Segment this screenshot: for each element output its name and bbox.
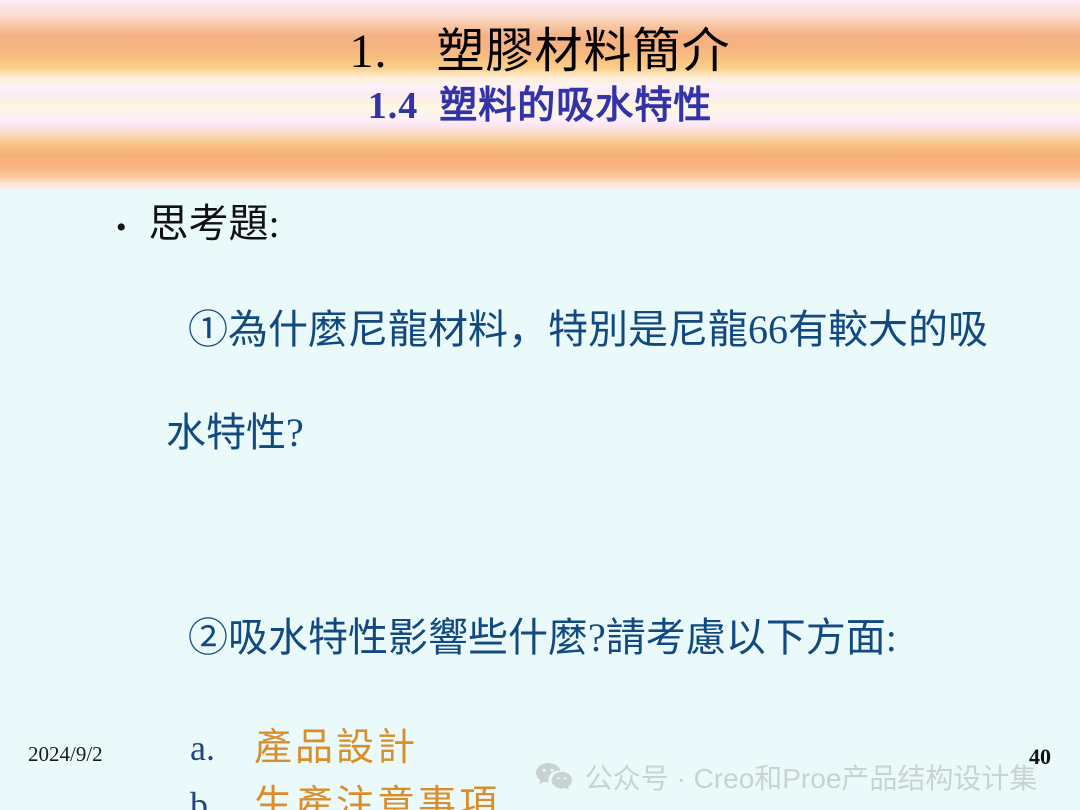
footer-date: 2024/9/2 <box>28 742 103 767</box>
page-title: 1. 塑膠材料簡介 <box>349 26 730 78</box>
sub-list-item-a-marker: a. <box>190 727 254 769</box>
slide-body: • 思考題: ①為什麼尼龍材料，特別是尼龍66有較大的吸 水特性? ②吸水特性影… <box>0 190 1080 735</box>
bullet-dot-icon: • <box>116 213 127 243</box>
watermark: 公众号 · Creo和Proe产品结构设计集 <box>488 757 1037 797</box>
list-item-2: ②吸水特性影響些什麼?請考慮以下方面: <box>128 560 1040 714</box>
wechat-icon <box>488 762 573 792</box>
slide-canvas: 1. 塑膠材料簡介 1.4 塑料的吸水特性 • 思考題: ①為什麼尼龍材料，特別… <box>0 0 1080 810</box>
list-item-1-continuation: 水特性? <box>166 407 1040 458</box>
page-number: 40 <box>1029 744 1051 770</box>
bullet-heading-label: 思考題: <box>149 198 280 249</box>
header-text-container: 1. 塑膠材料簡介 1.4 塑料的吸水特性 <box>0 0 1080 190</box>
sub-list-item-b-marker: b. <box>190 784 254 810</box>
page-subtitle: 1.4 塑料的吸水特性 <box>368 86 713 128</box>
bullet-heading: • 思考題: <box>116 198 1040 249</box>
watermark-text: 公众号 · Creo和Proe产品结构设计集 <box>585 757 1038 797</box>
sub-list-item-a-label: 產品設計 <box>254 716 418 771</box>
list-item-2-text: ②吸水特性影響些什麼?請考慮以下方面: <box>188 615 897 660</box>
sub-list-item-b-label: 生產注意事項 <box>254 773 500 810</box>
list-item-1-text: ①為什麼尼龍材料，特別是尼龍66有較大的吸 <box>188 307 988 352</box>
list-item-1: ①為什麼尼龍材料，特別是尼龍66有較大的吸 水特性? <box>128 253 1040 560</box>
